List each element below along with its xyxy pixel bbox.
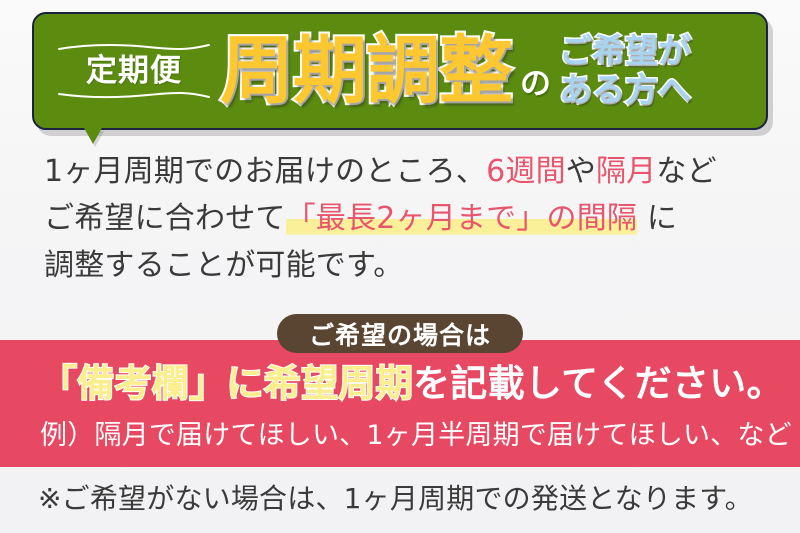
footnote-text: ※ご希望がない場合は、1ヶ月周期での発送となります。 <box>38 482 778 516</box>
wavy-rule-bottom-icon <box>58 91 210 99</box>
header-side-note-line1: ご希望が <box>559 32 691 71</box>
body-text-plain-2: ご希望に合わせて <box>44 201 286 236</box>
header-content: 定期便 周期調整 の ご希望が ある方へ <box>34 14 766 128</box>
body-copy: 1ヶ月周期でのお届けのところ、6週間や隔月など ご希望に合わせて「最長2ヶ月まで… <box>44 148 764 289</box>
header-side-note: ご希望が ある方へ <box>559 32 691 109</box>
body-copy-line-3: 調整することが可能です。 <box>44 242 764 289</box>
pink-example-text: 例）隔月で届けてほしい、1ヶ月半周期で届けてほしい、など <box>40 420 770 451</box>
wavy-rule-top-icon <box>58 43 210 51</box>
pink-headline-emphasis: 「備考欄」に希望周期 <box>40 362 413 405</box>
body-accent-bimonthly: 隔月 <box>596 154 656 189</box>
header-bubble: 定期便 周期調整 の ご希望が ある方へ <box>32 12 768 130</box>
body-copy-line-2: ご希望に合わせて「最長2ヶ月まで」の間隔 に <box>44 195 764 242</box>
body-text-nado: など <box>656 154 716 189</box>
subscription-badge-label: 定期便 <box>86 54 182 89</box>
body-text-ni: に <box>637 201 677 236</box>
headline-particle: の <box>520 58 551 103</box>
body-text-ya: や <box>566 154 596 189</box>
body-copy-line-1: 1ヶ月周期でのお届けのところ、6週間や隔月など <box>44 148 764 195</box>
body-accent-6weeks: 6週間 <box>486 154 566 189</box>
header-side-note-line2: ある方へ <box>559 71 691 110</box>
body-highlight-max-two-months: 「最長2ヶ月まで」の間隔 <box>286 201 638 236</box>
subscription-badge: 定期便 <box>58 43 210 100</box>
request-case-badge: ご希望の場合は <box>277 314 523 353</box>
request-case-badge-label: ご希望の場合は <box>309 316 491 352</box>
pink-headline-rest: を記載してください。 <box>413 362 784 405</box>
promo-banner: 定期便 周期調整 の ご希望が ある方へ 1ヶ月周期でのお届けのところ、6週間や… <box>0 0 800 533</box>
body-text-plain: 1ヶ月周期でのお届けのところ、 <box>44 154 486 189</box>
pink-headline: 「備考欄」に希望周期を記載してください。 <box>40 363 770 404</box>
speech-bubble-tail-icon <box>84 128 102 144</box>
headline-main: 周期調整 <box>220 34 512 108</box>
